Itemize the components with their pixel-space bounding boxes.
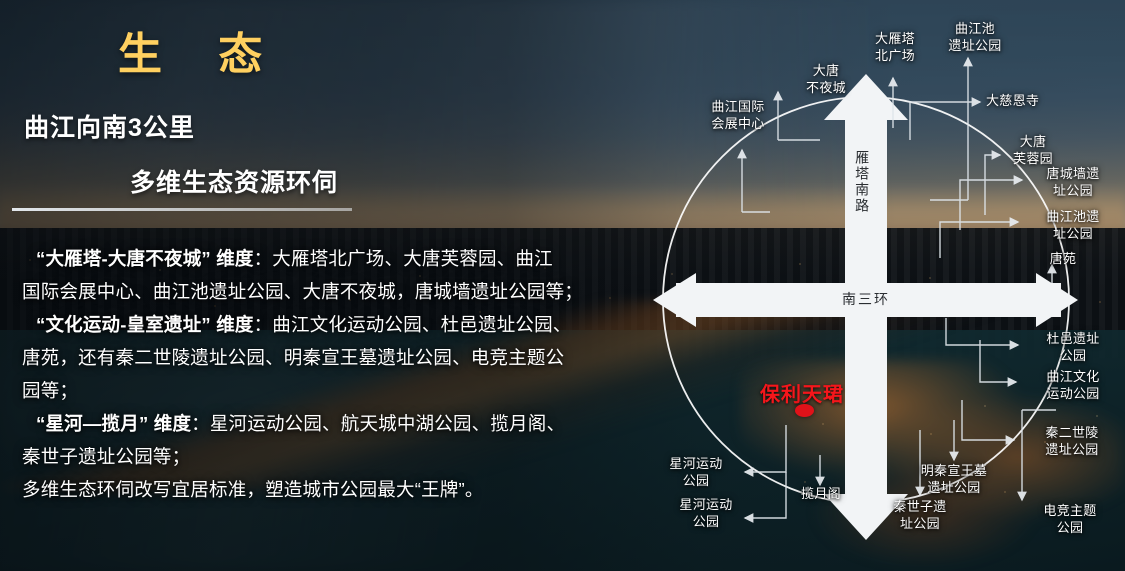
poi-label-qinshizi-park[interactable]: 秦世子遗 址公园 bbox=[880, 498, 960, 532]
location-map-diagram: 雁塔南路 南三环 保利天珺 曲江国际 会展中心 大唐 不夜城 大雁塔 北广场 曲… bbox=[0, 0, 1125, 571]
poi-label-duyi-park[interactable]: 杜邑遗址 公园 bbox=[1034, 330, 1112, 364]
poi-label-qujiang-expo[interactable]: 曲江国际 会展中心 bbox=[698, 98, 778, 132]
poi-label-qujiangchi-park-north[interactable]: 曲江池 遗址公园 bbox=[938, 20, 1012, 54]
project-name-label: 保利天珺 bbox=[760, 378, 844, 407]
poi-label-qujiangchi-park-east[interactable]: 曲江池遗 址公园 bbox=[1034, 208, 1112, 242]
poi-label-xinghe-sport-park-2[interactable]: 星河运动 公园 bbox=[666, 496, 746, 530]
slide-canvas: 生 态 曲江向南3公里 多维生态资源环伺 “大雁塔-大唐不夜城” 维度：大雁塔北… bbox=[0, 0, 1125, 571]
poi-label-lanyuege[interactable]: 揽月阁 bbox=[790, 485, 852, 502]
poi-label-tangchengqiang-park[interactable]: 唐城墙遗 址公园 bbox=[1034, 165, 1112, 199]
poi-label-mingqin-xuanwang-tomb-park[interactable]: 明秦宣王墓 遗址公园 bbox=[906, 462, 1002, 496]
poi-label-dayanta-north-square[interactable]: 大雁塔 北广场 bbox=[862, 30, 928, 64]
poi-label-tangyuan[interactable]: 唐苑 bbox=[1034, 250, 1092, 267]
road-label-yantanan-road: 雁塔南路 bbox=[854, 150, 870, 214]
poi-label-xinghe-sport-park-1[interactable]: 星河运动 公园 bbox=[656, 455, 736, 489]
poi-label-esports-theme-park[interactable]: 电竞主题 公园 bbox=[1026, 502, 1114, 536]
poi-label-datang-buyecheng[interactable]: 大唐 不夜城 bbox=[797, 62, 855, 96]
poi-label-qin-er-shi-ling-park[interactable]: 秦二世陵 遗址公园 bbox=[1032, 424, 1112, 458]
poi-label-daciensi[interactable]: 大慈恩寺 bbox=[986, 92, 1072, 109]
road-label-south-3rd-ring: 南三环 bbox=[842, 289, 890, 309]
poi-label-qujiang-culture-sport-park[interactable]: 曲江文化 运动公园 bbox=[1034, 368, 1112, 402]
project-location-dot-icon[interactable] bbox=[795, 404, 814, 417]
poi-label-datang-furongyuan[interactable]: 大唐 芙蓉园 bbox=[1004, 133, 1062, 167]
